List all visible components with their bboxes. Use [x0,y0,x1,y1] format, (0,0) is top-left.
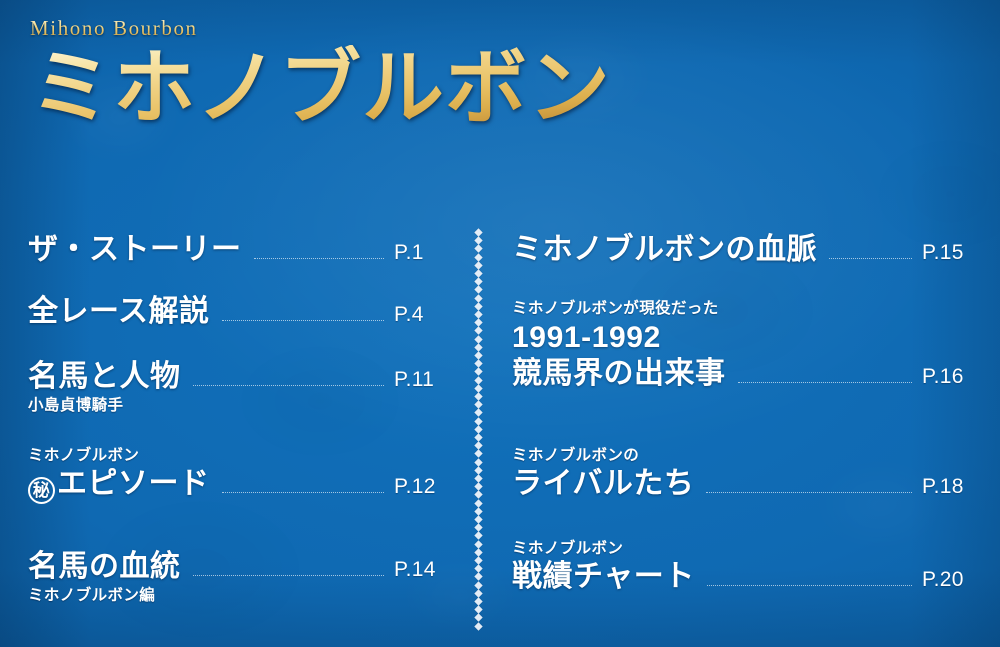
toc-entry-story[interactable]: ザ・ストーリー P.1 [28,233,452,267]
toc-entry-title: 名馬の血統 [28,550,181,584]
divider-diamond [474,622,482,630]
divider-diamond [474,425,482,433]
divider-diamond [474,450,482,458]
toc-page-number: P.14 [394,558,452,582]
toc-entry-bloodline[interactable]: 名馬の血統 P.14 ミホノブルボン編 [28,550,452,604]
divider-diamond [474,384,482,392]
divider-diamond [474,302,482,310]
divider-diamond [474,253,482,261]
toc-entry-subtitle: 小島貞博騎手 [28,397,452,414]
toc-entry-title: 名馬と人物 [28,360,181,394]
divider-diamond [474,294,482,302]
toc-entry-title: ミホノブルボンの血脈 [512,233,817,267]
toc-left-column: ザ・ストーリー P.1 全レース解説 P.4 名馬と人物 P.11 [28,215,452,647]
divider-diamond [474,548,482,556]
toc-right-column: ミホノブルボンの血脈 P.15 ミホノブルボンが現役だった 1991-1992 … [512,215,980,647]
divider-diamond [474,499,482,507]
toc-entry-overline: ミホノブルボンが現役だった [512,300,980,317]
table-of-contents: ザ・ストーリー P.1 全レース解説 P.4 名馬と人物 P.11 [0,215,1000,647]
toc-page-number: P.16 [922,365,980,389]
toc-entry-record-chart[interactable]: ミホノブルボン 戦績チャート P.20 [512,540,980,594]
leader-dots [222,319,385,321]
divider-diamond [474,343,482,351]
toc-page: Mihono Bourbon ミホノブルボン ザ・ストーリー P.1 全レース解… [0,0,1000,647]
leader-dots [706,491,912,493]
toc-entry-title-line2: 競馬界の出来事 [512,357,726,391]
divider-diamond [474,327,482,335]
page-title: ミホノブルボン [30,45,611,132]
divider-diamond [474,261,482,269]
leader-dots [738,381,913,383]
diamond-chain-divider [474,228,483,628]
leader-dots [222,491,385,493]
divider-diamond [474,581,482,589]
masthead: Mihono Bourbon ミホノブルボン [30,18,611,132]
toc-entry-title: 秘エピソード [28,467,210,504]
toc-entry-bloodvessel[interactable]: ミホノブルボンの血脈 P.15 [512,233,980,267]
toc-entry-overline: ミホノブルボン [28,447,452,464]
latin-title: Mihono Bourbon [30,18,611,39]
divider-diamond [474,335,482,343]
toc-entry-overline: ミホノブルボン [512,540,980,557]
toc-entry-rivals[interactable]: ミホノブルボンの ライバルたち P.18 [512,447,980,501]
divider-diamond [474,573,482,581]
divider-diamond [474,376,482,384]
toc-entry-title-text: エピソード [57,467,210,500]
leader-dots [193,574,385,576]
divider-diamond [474,466,482,474]
toc-entry-title: ザ・ストーリー [28,233,242,267]
secret-badge-icon: 秘 [28,477,55,504]
toc-entry-subtitle: ミホノブルボン編 [28,587,452,604]
toc-entry-all-races[interactable]: 全レース解説 P.4 [28,295,452,329]
toc-page-number: P.4 [394,303,452,327]
divider-diamond [474,458,482,466]
divider-diamond [474,532,482,540]
leader-dots [254,257,385,259]
divider-diamond [474,409,482,417]
divider-diamond [474,491,482,499]
toc-entry-title: ライバルたち [512,467,694,501]
leader-dots [707,584,912,586]
divider-diamond [474,245,482,253]
toc-page-number: P.18 [922,475,980,499]
divider-diamond [474,286,482,294]
leader-dots [193,384,385,386]
divider-diamond [474,417,482,425]
divider-diamond [474,589,482,597]
toc-page-number: P.1 [394,241,452,265]
toc-page-number: P.11 [394,368,452,392]
toc-entry-1991-1992-events[interactable]: ミホノブルボンが現役だった 1991-1992 競馬界の出来事 P.16 [512,300,980,390]
toc-page-number: P.12 [394,475,452,499]
divider-diamond [474,368,482,376]
divider-diamond [474,614,482,622]
toc-page-number: P.20 [922,568,980,592]
leader-dots [829,257,912,259]
toc-entry-horses-and-people[interactable]: 名馬と人物 P.11 小島貞博騎手 [28,360,452,414]
toc-page-number: P.15 [922,241,980,265]
toc-entry-secret-episode[interactable]: ミホノブルボン 秘エピソード P.12 [28,447,452,504]
toc-entry-overline: ミホノブルボンの [512,447,980,464]
divider-diamond [474,540,482,548]
toc-entry-title-line1: 1991-1992 [512,320,980,357]
toc-entry-title: 戦績チャート [512,560,695,594]
divider-diamond [474,507,482,515]
toc-entry-title: 全レース解説 [28,295,210,329]
